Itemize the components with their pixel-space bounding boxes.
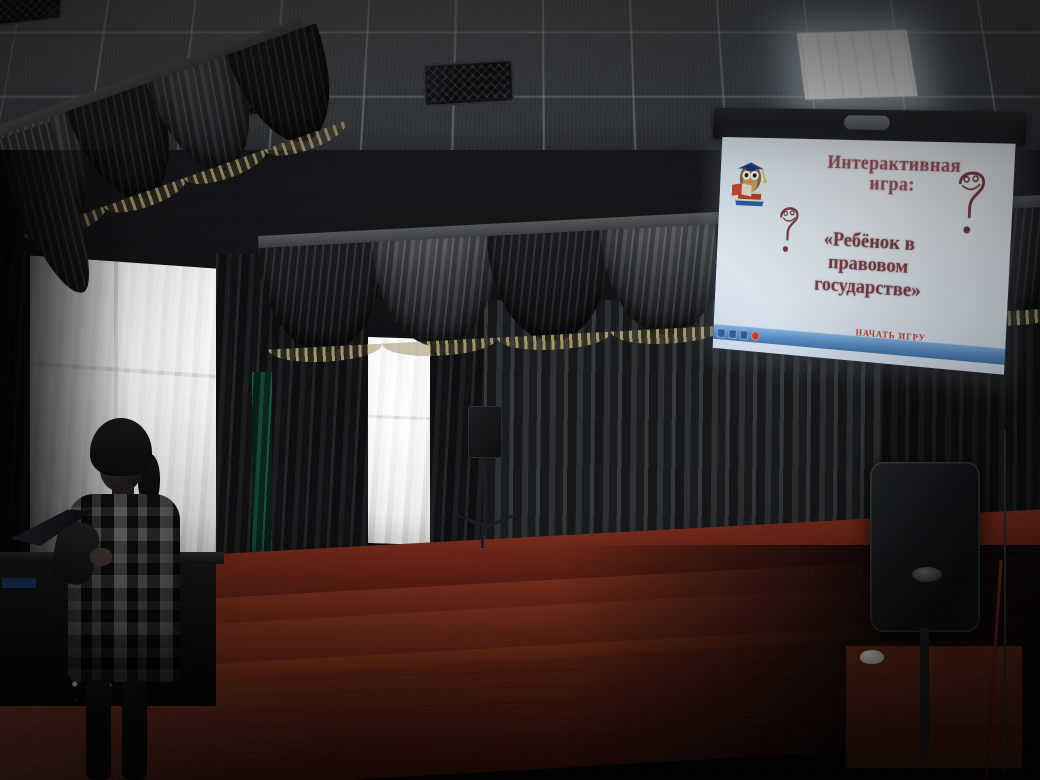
pa-speaker-large [870,462,980,632]
slide-subtitle: «Ребёнок в правовом государстве» [766,225,977,306]
plaid-checkered-tunic [68,494,180,682]
presenter [42,418,202,780]
side-table [846,646,1022,768]
screen-mount-bracket [843,115,889,130]
assembly-hall-photo: Интерактивная игра: «Ребёнок в правовом … [0,0,1040,780]
ceiling-lamp-on [797,30,918,100]
speaker-badge [912,567,942,582]
presenter-hand [90,548,112,566]
record-icon[interactable] [751,331,760,341]
start-icon[interactable] [717,328,725,338]
valance-swag [372,236,502,350]
slide-title: Интерактивная игра: [785,151,1007,198]
speaker-pole-stand [920,628,929,758]
pa-speaker-small-on-tripod [468,406,502,458]
projection-surface: Интерактивная игра: «Ребёнок в правовом … [713,137,1016,375]
computer-mouse[interactable] [860,650,884,664]
ceiling-lamp-off-3 [424,60,515,107]
valance-swag [258,241,388,355]
valance-swag [486,230,616,344]
presenter-legs [86,680,152,780]
tripod-leg [481,522,484,548]
power-cable [1004,430,1006,770]
projection-screen: Интерактивная игра: «Ребёнок в правовом … [706,108,1027,384]
presentation-slide: Интерактивная игра: «Ребёнок в правовом … [713,137,1016,375]
folder-icon[interactable] [740,330,749,340]
piano-book [2,578,36,588]
presenter-leg [122,680,147,780]
owl-graduate-with-books-icon [726,157,774,210]
presenter-hair [90,418,152,476]
window-icon[interactable] [728,329,736,339]
presenter-leg [86,680,111,780]
